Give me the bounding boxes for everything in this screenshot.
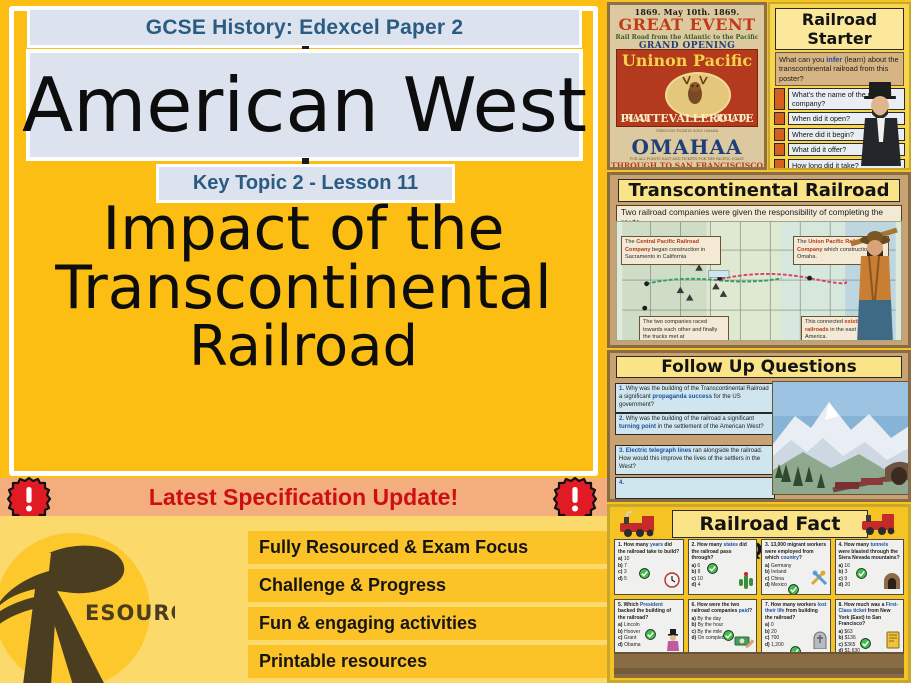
quiz-question: 2. How many states did the railroad pass… [692, 542, 754, 562]
clock-icon [664, 572, 680, 588]
poster-content: 1869. May 10th. 1869. GREAT EVENT Rail R… [610, 5, 764, 167]
locomotive-icon-right [858, 509, 906, 535]
quiz-keyword: country [781, 555, 799, 561]
quiz-card[interactable]: 3. 13,000 migrant workers were employed … [761, 539, 831, 595]
lesson-title-block: Impact of the Transcontinental Railroad [16, 200, 591, 472]
lincoln-illustration-icon [855, 80, 907, 166]
thumb-union-pacific-poster[interactable]: 1869. May 10th. 1869. GREAT EVENT Rail R… [607, 2, 767, 170]
poster-company-name: Uninon Pacific [617, 53, 757, 69]
follow-up-title: Follow Up Questions [616, 356, 902, 378]
cactus-icon [738, 572, 754, 590]
quiz-card[interactable]: 4. How many tunnels were blasted through… [835, 539, 905, 595]
follow-up-question: 1. Why was the building of the Transcont… [615, 383, 775, 413]
quiz-card[interactable]: 6. How were the two railroad companies p… [688, 599, 758, 655]
follow-up-question: 4. [615, 477, 775, 499]
quiz-number: 6. [692, 602, 696, 608]
logo-wordmark: ESOURCES [85, 601, 175, 625]
starter-prompt-keyword: infer [826, 55, 842, 64]
quiz-number: 8. [839, 602, 843, 608]
quiz-pre: How much was a [844, 602, 886, 608]
cover-left: GCSE History: Edexcel Paper 2 American W… [0, 0, 607, 683]
question-number: 2. [619, 416, 624, 422]
poster-micro-line-1: THROUGH TICKETS SOLD OMAHA [610, 129, 764, 133]
quiz-pre: How many [844, 542, 870, 548]
correct-tick-icon [856, 568, 867, 579]
exam-header-text: GCSE History: Edexcel Paper 2 [146, 16, 463, 40]
correct-tick-icon [707, 563, 718, 574]
transcontinental-title: Transcontinental Railroad [618, 179, 900, 202]
poster-route-name: PLATTEVALLEROUTE [617, 112, 757, 125]
orange-tab [774, 112, 785, 125]
ticket-icon [885, 631, 901, 649]
orange-tab [774, 159, 785, 170]
correct-tick-icon [860, 638, 871, 649]
main-title-band: American West [30, 53, 579, 157]
question-keyword: Electric telegraph lines [626, 448, 692, 454]
quiz-post: ? [749, 608, 752, 614]
money-icon [734, 635, 754, 649]
feature-label: Challenge & Progress [259, 575, 446, 596]
poster-year-line: 1869. May 10th. 1869. [610, 7, 764, 17]
quiz-pre: How were the two railroad companies [692, 602, 740, 615]
elk-icon [677, 74, 713, 110]
poster-through-line: THROUGH TO SAN FRANCISCISCO [610, 161, 764, 170]
feature-label: Printable resources [259, 651, 427, 672]
page-title: American West [22, 68, 587, 143]
map-note-race: The two companies raced towards each oth… [639, 316, 729, 341]
spec-update-banner: Latest Specification Update! [0, 478, 607, 516]
question-pre: Why was the building of the railroad a s… [626, 416, 754, 422]
feature-row: Challenge & Progress [248, 569, 607, 602]
alert-icon-right [553, 477, 597, 521]
quiz-pre: How many [624, 542, 650, 548]
question-number: 1. [619, 386, 624, 392]
lesson-title-line-3: Railroad [189, 319, 418, 374]
mountain-scene-svg [773, 382, 909, 494]
quiz-keyword: paid [739, 608, 749, 614]
feature-row: Fully Resourced & Exam Focus [248, 531, 607, 564]
quiz-card[interactable]: 1. How many years did the railroad take … [614, 539, 684, 595]
quiz-number: 4. [839, 542, 843, 548]
president-icon [665, 629, 681, 651]
question-post: in the settlement of the American West? [656, 424, 764, 430]
feature-label: Fun & engaging activities [259, 613, 477, 634]
feature-label: Fully Resourced & Exam Focus [259, 537, 528, 558]
sierra-nevada-photo [772, 381, 910, 495]
orange-tab [774, 88, 785, 110]
locomotive-icon-left [616, 511, 668, 537]
quiz-title: Railroad Fact Quiz [672, 510, 868, 538]
poster-red-block: Uninon Pacific RAIL ROAD. PLATTEVALLEROU… [616, 49, 758, 127]
grave-icon [812, 631, 828, 649]
quiz-number: 7. [765, 602, 769, 608]
slide-canvas: GCSE History: Edexcel Paper 2 American W… [0, 0, 911, 683]
follow-up-question: 3. Electric telegraph lines ran alongsid… [615, 445, 775, 475]
poster-rail-line: Rail Road from the Atlantic to the Pacif… [610, 34, 764, 41]
quiz-post: were blasted through the Siera Nevada mo… [839, 549, 900, 562]
quiz-keyword: President [640, 602, 663, 608]
starter-prompt-pre: What can you [779, 55, 826, 64]
question-number: 4. [619, 480, 624, 486]
quiz-question: 3. 13,000 migrant workers were employed … [765, 542, 827, 562]
quiz-number: 5. [618, 602, 622, 608]
preview-thumbnail-column: 1869. May 10th. 1869. GREAT EVENT Rail R… [607, 0, 911, 683]
note-pre: The [625, 239, 636, 245]
question-number: 3. [619, 448, 624, 454]
question-keyword: turning point [619, 424, 656, 430]
thumb-railroad-starter[interactable]: Railroad Starter What can you infer (lea… [768, 2, 911, 170]
alert-icon-left [7, 477, 51, 521]
quiz-keyword: years [650, 542, 663, 548]
usa-map: The Central Pacific Railroad Company beg… [616, 221, 902, 341]
quiz-card-grid: 1. How many years did the railroad take … [614, 539, 904, 654]
quiz-question: 4. How many tunnels were blasted through… [839, 542, 901, 562]
map-note-central-pacific: The Central Pacific Railroad Company beg… [621, 236, 721, 265]
feature-row: Printable resources [248, 645, 607, 678]
quiz-card[interactable]: 8. How much was a First-Class ticket fro… [835, 599, 905, 655]
spec-update-text: Latest Specification Update! [149, 484, 458, 511]
quiz-card[interactable]: 5. Which President backed the building o… [614, 599, 684, 655]
correct-tick-icon [645, 629, 656, 640]
lesson-title-line-1: Impact of the [103, 200, 505, 259]
quiz-pre: Which [624, 602, 640, 608]
poster-omaha: OMAHAA [610, 137, 764, 157]
quiz-question: 1. How many years did the railroad take … [618, 542, 680, 555]
quiz-number: 3. [765, 542, 769, 548]
quiz-post: ? [799, 555, 802, 561]
railroad-worker-icon [847, 226, 901, 341]
orange-tab [774, 143, 785, 156]
question-keyword: propaganda success [652, 394, 712, 400]
thumb-railroad-fact-quiz[interactable]: Railroad Fact Quiz 1. How many years did… [607, 504, 911, 683]
quiz-keyword: tunnels [870, 542, 888, 548]
quiz-question: 7. How many workers lost their life from… [765, 602, 827, 622]
lesson-subtitle-text: Key Topic 2 - Lesson 11 [193, 172, 418, 195]
orange-tab [774, 128, 785, 141]
follow-up-question: 2. Why was the building of the railroad … [615, 413, 775, 435]
quiz-wooden-base [614, 652, 904, 678]
quiz-keyword: states [723, 542, 737, 548]
tunnel-icon [883, 572, 901, 590]
correct-tick-icon [723, 630, 734, 641]
brand-logo: ESOURCES [0, 527, 175, 683]
thumb-follow-up-questions[interactable]: Follow Up Questions 1. Why was the build… [607, 350, 911, 502]
quiz-post: backed the building of the railroad? [618, 608, 671, 621]
correct-tick-icon [788, 584, 799, 595]
note-pre: This connected [805, 319, 845, 325]
quiz-card[interactable]: 7. How many workers lost their life from… [761, 599, 831, 655]
poster-great-event: GREAT EVENT [610, 17, 764, 33]
lesson-title-line-2: Transcontinental [55, 259, 551, 318]
quiz-card[interactable]: 2. How many states did the railroad pass… [688, 539, 758, 595]
quiz-number: 2. [692, 542, 696, 548]
quiz-number: 1. [618, 542, 622, 548]
quiz-pre: How many workers [771, 602, 818, 608]
correct-tick-icon [639, 568, 650, 579]
quiz-question: 8. How much was a First-Class ticket fro… [839, 602, 901, 628]
starter-title: Railroad Starter [775, 8, 904, 50]
quiz-question: 6. How were the two railroad companies p… [692, 602, 754, 615]
note-pre: The [797, 239, 808, 245]
quiz-pre: How many [697, 542, 723, 548]
thumb-transcontinental-railroad[interactable]: Transcontinental Railroad Two railroad c… [607, 172, 911, 348]
note-pre: The two companies raced towards each oth… [643, 319, 717, 340]
quiz-question: 5. Which President backed the building o… [618, 602, 680, 622]
feature-list: Fully Resourced & Exam Focus Challenge &… [248, 531, 607, 683]
exam-header-band: GCSE History: Edexcel Paper 2 [30, 10, 579, 45]
feature-row: Fun & engaging activities [248, 607, 607, 640]
tools-icon [810, 570, 828, 586]
